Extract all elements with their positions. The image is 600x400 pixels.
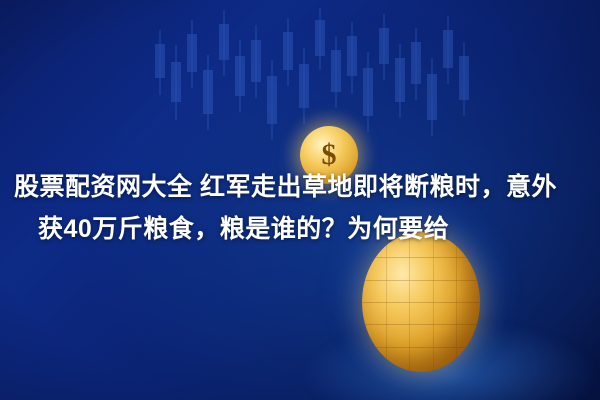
- headline: 股票配资网大全 红军走出草地即将断粮时，意外 获40万斤粮食，粮是谁的？为何要给: [14, 166, 574, 250]
- promo-image: $ 股票配资网大全 红军走出草地即将断粮时，意外 获40万斤粮食，粮是谁的？为何…: [0, 0, 600, 400]
- headline-line-2: 获40万斤粮食，粮是谁的？为何要给: [14, 208, 574, 250]
- headline-line-1: 股票配资网大全 红军走出草地即将断粮时，意外: [14, 173, 557, 201]
- globe-gridlines: [362, 232, 480, 372]
